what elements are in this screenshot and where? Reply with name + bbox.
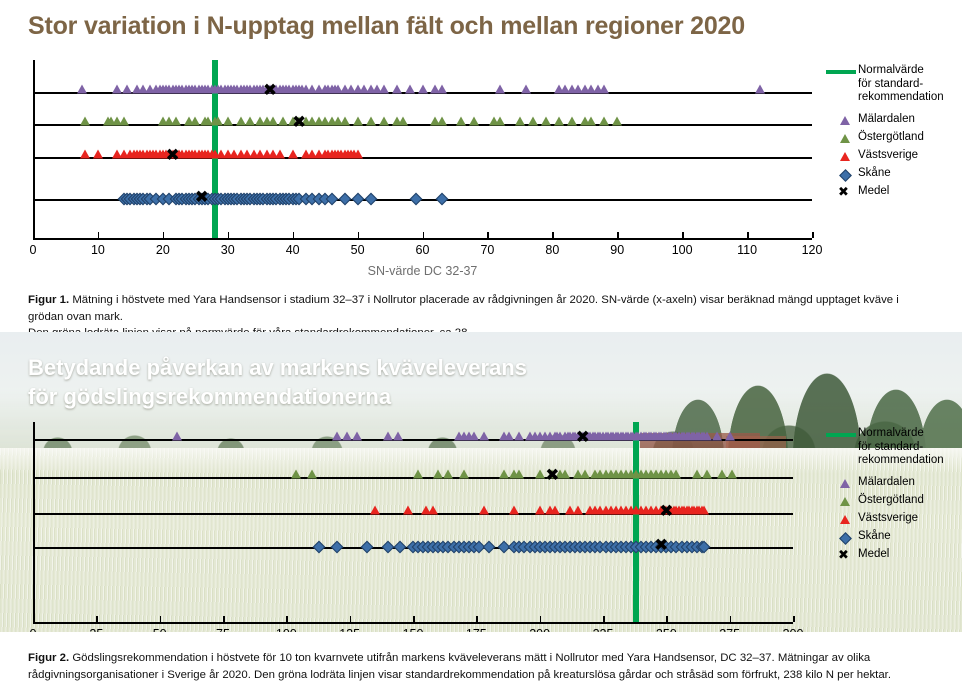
data-point-mälardalen: [352, 432, 362, 441]
data-point-västsverige: [353, 150, 363, 159]
data-point-östergötland: [245, 117, 255, 126]
data-point-skåne: [313, 541, 326, 554]
mean-marker-östergötland: ✖: [545, 468, 559, 485]
data-point-östergötland: [586, 117, 596, 126]
legend-label: Skåne: [858, 167, 891, 181]
data-point-östergötland: [514, 470, 524, 479]
category-row-line: [33, 124, 812, 126]
data-point-skåne: [483, 541, 496, 554]
chart-2-plot-area: 0255075100125150175200225250275300Gödsli…: [0, 422, 812, 622]
mean-marker-mälardalen: ✖: [576, 430, 590, 447]
legend-label: Mälardalen: [858, 476, 915, 490]
data-point-östergötland: [340, 117, 350, 126]
data-point-östergötland: [515, 117, 525, 126]
x-axis-tick-label: 110: [737, 243, 757, 257]
data-point-östergötland: [433, 470, 443, 479]
data-point-mälardalen: [725, 432, 735, 441]
y-axis-line: [33, 60, 35, 238]
data-point-östergötland: [495, 117, 505, 126]
x-axis-tick: [286, 616, 288, 622]
x-axis-tick-label: 80: [545, 243, 559, 257]
x-axis-tick: [160, 616, 162, 622]
x-axis-title: SN-värde DC 32-37: [368, 264, 478, 278]
x-axis-tick: [413, 616, 415, 622]
x-axis-tick: [603, 616, 605, 622]
data-point-östergötland: [80, 117, 90, 126]
x-axis-line: [33, 238, 812, 240]
x-axis-tick: [293, 232, 295, 238]
legend-diamond-icon: [839, 169, 852, 182]
data-point-västsverige: [80, 150, 90, 159]
data-point-mälardalen: [504, 432, 514, 441]
legend-green-line-icon: [826, 433, 856, 437]
data-point-östergötland: [727, 470, 737, 479]
data-point-östergötland: [456, 117, 466, 126]
data-point-östergötland: [671, 470, 681, 479]
x-axis-tick: [33, 616, 35, 622]
x-axis-tick: [682, 232, 684, 238]
x-axis-tick: [358, 232, 360, 238]
data-point-skåne: [394, 541, 407, 554]
x-axis-tick: [617, 232, 619, 238]
x-axis-tick: [730, 616, 732, 622]
mean-marker-skåne: ✖: [195, 190, 209, 207]
legend-label: Medel: [858, 185, 889, 199]
data-point-östergötland: [223, 117, 233, 126]
data-point-mälardalen: [469, 432, 479, 441]
section-figure-2: Betydande påverkan av markens kvävelever…: [0, 332, 962, 632]
y-axis-line: [33, 422, 35, 622]
data-point-mälardalen: [392, 85, 402, 94]
data-point-östergötland: [702, 470, 712, 479]
x-axis-tick: [476, 616, 478, 622]
data-point-östergötland: [291, 470, 301, 479]
figure-2-caption-line1: Gödslingsrekommendation i höstvete för 1…: [72, 652, 870, 664]
data-point-östergötland: [268, 117, 278, 126]
chart-1-legend: Normalvärdeför standard-rekommendationMä…: [826, 64, 962, 204]
data-point-mälardalen: [514, 432, 524, 441]
x-axis-tick: [223, 616, 225, 622]
legend-label: Östergötland: [858, 131, 924, 145]
data-point-mälardalen: [112, 85, 122, 94]
x-axis-tick-label: 20: [156, 243, 170, 257]
section-2-title-line1: Betydande påverkan av markens kvävelever…: [28, 355, 527, 380]
x-axis-tick: [228, 232, 230, 238]
legend-green-line-icon: [826, 70, 856, 74]
data-point-mälardalen: [379, 85, 389, 94]
data-point-östergötland: [560, 470, 570, 479]
legend-label: Medel: [858, 548, 889, 562]
data-point-östergötland: [379, 117, 389, 126]
data-point-mälardalen: [393, 432, 403, 441]
data-point-östergötland: [580, 470, 590, 479]
data-point-skåne: [351, 193, 364, 206]
data-point-östergötland: [398, 117, 408, 126]
x-axis-tick: [423, 232, 425, 238]
data-point-västsverige: [370, 506, 380, 515]
chart-2-legend: Normalvärdeför standard-rekommendationMä…: [826, 427, 962, 567]
x-axis-tick: [540, 616, 542, 622]
legend-label: Normalvärdeför standard-rekommendation: [858, 64, 944, 105]
x-axis-tick: [350, 616, 352, 622]
data-point-västsverige: [509, 506, 519, 515]
data-point-östergötland: [437, 117, 447, 126]
figure-2-caption-line2: rådgivningsorganisationer i Sverige år 2…: [28, 669, 891, 681]
data-point-östergötland: [213, 117, 223, 126]
data-point-mälardalen: [437, 85, 447, 94]
x-axis-tick: [163, 232, 165, 238]
data-point-skåne: [381, 541, 394, 554]
data-point-östergötland: [469, 117, 479, 126]
x-axis-tick: [747, 232, 749, 238]
figure-2-caption-area: Figur 2. Gödslingsrekommendation i höstv…: [0, 632, 962, 697]
x-axis-tick: [487, 232, 489, 238]
legend-label: Västsverige: [858, 512, 918, 526]
x-axis-tick-label: 0: [30, 243, 37, 257]
data-point-östergötland: [692, 470, 702, 479]
mean-marker-västsverige: ✖: [659, 504, 673, 521]
data-point-skåne: [410, 193, 423, 206]
data-point-östergötland: [236, 117, 246, 126]
legend-triangle-icon: [840, 134, 850, 143]
page-title: Stor variation i N-upptag mellan fält oc…: [28, 12, 745, 41]
legend-triangle-icon: [840, 116, 850, 125]
section-figure-1: Stor variation i N-upptag mellan fält oc…: [0, 0, 962, 332]
data-point-västsverige: [535, 506, 545, 515]
data-point-östergötland: [528, 117, 538, 126]
data-point-östergötland: [459, 470, 469, 479]
legend-x-mark-icon: ✖: [838, 186, 849, 199]
data-point-mälardalen: [712, 432, 722, 441]
data-point-östergötland: [307, 470, 317, 479]
x-axis-tick: [812, 232, 814, 238]
data-point-mälardalen: [77, 85, 87, 94]
data-point-östergötland: [535, 470, 545, 479]
x-axis-tick: [793, 616, 795, 622]
data-point-östergötland: [119, 117, 129, 126]
data-point-skåne: [436, 193, 449, 206]
data-point-östergötland: [443, 470, 453, 479]
figure-1-caption-label: Figur 1.: [28, 294, 69, 306]
section-2-title: Betydande påverkan av markens kvävelever…: [28, 354, 527, 411]
legend-label: Skåne: [858, 530, 891, 544]
x-axis-tick-label: 90: [610, 243, 624, 257]
legend-diamond-icon: [839, 532, 852, 545]
x-axis-tick-label: 50: [351, 243, 365, 257]
legend-label: Östergötland: [858, 494, 924, 508]
data-point-västsverige: [428, 506, 438, 515]
data-point-mälardalen: [479, 432, 489, 441]
legend-label: Västsverige: [858, 149, 918, 163]
data-point-mälardalen: [342, 432, 352, 441]
reference-line-normalvarde: [633, 422, 639, 622]
data-point-västsverige: [93, 150, 103, 159]
x-axis-tick-label: 60: [416, 243, 430, 257]
legend-label: Mälardalen: [858, 113, 915, 127]
data-point-mälardalen: [172, 432, 182, 441]
x-axis-tick: [666, 616, 668, 622]
section-2-title-line2: för gödslingsrekommendationerna: [28, 384, 391, 409]
data-point-skåne: [361, 541, 374, 554]
x-axis-tick-label: 30: [221, 243, 235, 257]
data-point-östergötland: [554, 117, 564, 126]
data-point-mälardalen: [332, 432, 342, 441]
legend-label: Normalvärdeför standard-rekommendation: [858, 427, 944, 468]
x-axis-tick-label: 120: [802, 243, 823, 257]
data-point-östergötland: [541, 117, 551, 126]
data-point-östergötland: [413, 470, 423, 479]
mean-marker-östergötland: ✖: [292, 115, 306, 132]
data-point-västsverige: [573, 506, 583, 515]
data-point-östergötland: [190, 117, 200, 126]
data-point-östergötland: [599, 117, 609, 126]
data-point-västsverige: [550, 506, 560, 515]
data-point-skåne: [338, 193, 351, 206]
data-point-västsverige: [403, 506, 413, 515]
x-axis-tick-label: 10: [91, 243, 105, 257]
x-axis-tick: [98, 232, 100, 238]
data-point-östergötland: [499, 470, 509, 479]
figure-2-caption: Figur 2. Gödslingsrekommendation i höstv…: [28, 650, 933, 683]
data-point-skåne: [364, 193, 377, 206]
mean-marker-mälardalen: ✖: [263, 83, 277, 100]
x-axis-tick-label: 100: [672, 243, 693, 257]
x-axis-line: [33, 622, 793, 624]
data-point-mälardalen: [755, 85, 765, 94]
figure-page: Stor variation i N-upptag mellan fält oc…: [0, 0, 962, 697]
chart-1-plot-area: 0102030405060708090100110120SN-värde DC …: [0, 60, 830, 260]
data-point-mälardalen: [495, 85, 505, 94]
x-axis-tick: [96, 616, 98, 622]
data-point-mälardalen: [383, 432, 393, 441]
data-point-skåne: [331, 541, 344, 554]
data-point-östergötland: [366, 117, 376, 126]
data-point-mälardalen: [599, 85, 609, 94]
mean-marker-västsverige: ✖: [165, 148, 179, 165]
figure-2-caption-label: Figur 2.: [28, 652, 69, 664]
x-axis-tick: [552, 232, 554, 238]
legend-triangle-icon: [840, 515, 850, 524]
x-axis-tick-label: 70: [480, 243, 494, 257]
data-point-västsverige: [275, 150, 285, 159]
legend-triangle-icon: [840, 152, 850, 161]
data-point-mälardalen: [521, 85, 531, 94]
figure-1-caption-line1: Mätning i höstvete med Yara Handsensor i…: [28, 294, 899, 323]
legend-triangle-icon: [840, 497, 850, 506]
mean-marker-skåne: ✖: [654, 538, 668, 555]
data-point-mälardalen: [405, 85, 415, 94]
data-point-mälardalen: [418, 85, 428, 94]
data-point-mälardalen: [702, 432, 712, 441]
data-point-västsverige: [699, 506, 709, 515]
data-point-östergötland: [353, 117, 363, 126]
x-axis-tick: [33, 232, 35, 238]
data-point-östergötland: [171, 117, 181, 126]
data-point-mälardalen: [122, 85, 132, 94]
data-point-östergötland: [717, 470, 727, 479]
data-point-östergötland: [612, 117, 622, 126]
x-axis-tick-label: 40: [286, 243, 300, 257]
data-point-östergötland: [567, 117, 577, 126]
legend-x-mark-icon: ✖: [838, 549, 849, 562]
data-point-västsverige: [288, 150, 298, 159]
data-point-västsverige: [479, 506, 489, 515]
legend-triangle-icon: [840, 479, 850, 488]
data-point-östergötland: [278, 117, 288, 126]
